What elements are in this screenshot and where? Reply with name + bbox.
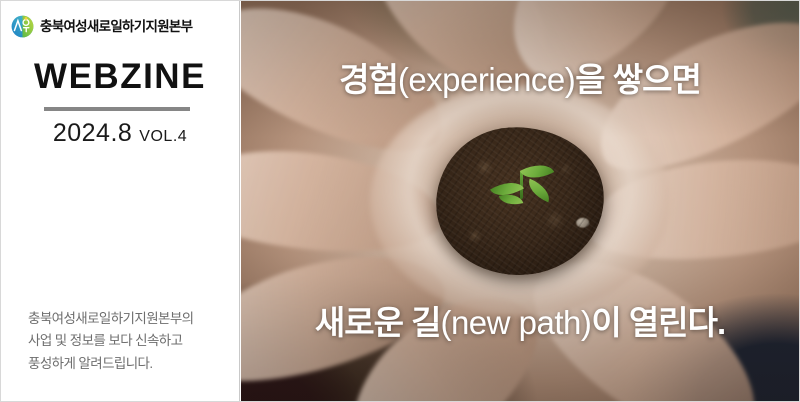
- brand-name: 충북여성새로일하기지원본부: [40, 20, 192, 34]
- brand-header: 충북여성새로일하기지원본부: [11, 15, 192, 38]
- photo-overlay-shade: [241, 1, 799, 401]
- title-divider-rule: [44, 107, 190, 111]
- saeil-circle-logo-icon: [11, 15, 34, 38]
- issue-line: 2024.8VOL.4: [1, 121, 239, 146]
- issue-volume: VOL.4: [139, 128, 187, 145]
- webzine-banner: 충북여성새로일하기지원본부 WEBZINE 2024.8VOL.4 충북여성새로…: [0, 0, 800, 402]
- panel-description: 충북여성새로일하기지원본부의 사업 및 정보를 보다 신속하고 풍성하게 알려드…: [28, 308, 228, 375]
- description-line-2: 사업 및 정보를 보다 신속하고: [28, 330, 228, 352]
- left-info-panel: 충북여성새로일하기지원본부 WEBZINE 2024.8VOL.4 충북여성새로…: [1, 1, 240, 401]
- description-line-3: 풍성하게 알려드립니다.: [28, 353, 228, 375]
- description-line-1: 충북여성새로일하기지원본부의: [28, 308, 228, 330]
- webzine-title: WEBZINE: [1, 59, 239, 94]
- issue-date: 2024.8: [53, 119, 132, 147]
- hero-photo: 경험(experience)을 쌓으면 새로운 길(new path)이 열린다…: [241, 1, 799, 401]
